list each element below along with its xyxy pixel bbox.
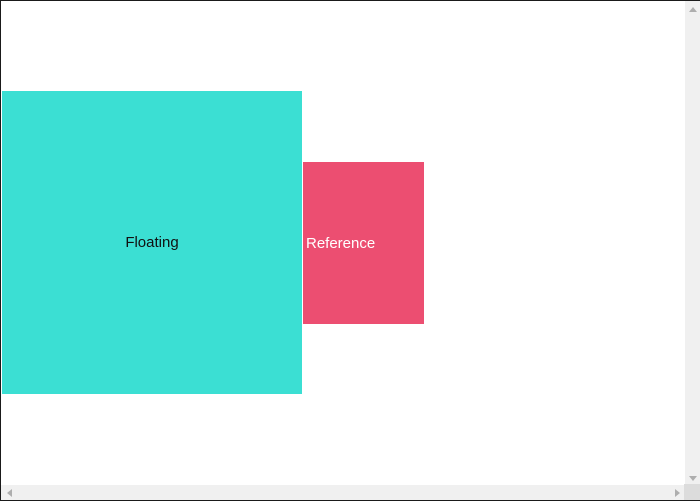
scrollbar-corner (684, 484, 700, 500)
page-content-canvas: Floating Reference (1, 1, 685, 486)
scroll-up-arrow-icon[interactable] (685, 1, 700, 17)
triangle-right-icon (675, 489, 680, 497)
reference-element-label: Reference (306, 236, 375, 251)
vertical-scrollbar[interactable] (684, 1, 700, 486)
floating-element-box[interactable]: Floating (2, 91, 302, 394)
triangle-up-icon (689, 7, 697, 12)
horizontal-scrollbar[interactable] (1, 484, 685, 500)
triangle-left-icon (7, 489, 12, 497)
floating-element-label: Floating (125, 235, 178, 250)
reference-element-box[interactable]: Reference (303, 162, 424, 324)
browser-viewport-frame: Floating Reference (0, 0, 700, 501)
triangle-down-icon (689, 476, 697, 481)
scroll-right-arrow-icon[interactable] (669, 485, 685, 500)
scroll-left-arrow-icon[interactable] (1, 485, 17, 500)
